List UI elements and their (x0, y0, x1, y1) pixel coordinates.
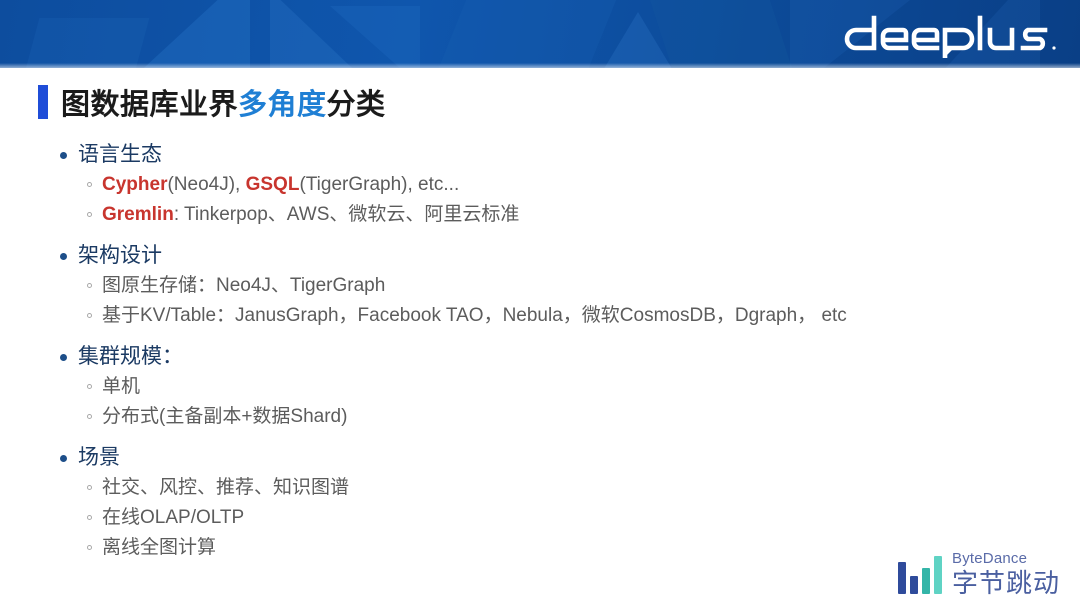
outline-text: 在线OLAP/OLTP (102, 507, 244, 528)
outline-text: : Tinkerpop、AWS、微软云、阿里云标准 (174, 204, 520, 225)
bytedance-bars-icon (898, 554, 942, 594)
page-title: 图数据库业界多角度分类 (38, 80, 386, 124)
banner-bottom-fade (0, 63, 1080, 68)
bytedance-bar-4 (934, 556, 942, 594)
outline-group-gap (56, 432, 1016, 441)
outline-item: 分布式(主备副本+数据Shard) (56, 402, 1016, 432)
outline-item: 图原生存储：Neo4J、TigerGraph (56, 271, 1016, 301)
outline-group-gap (56, 331, 1016, 340)
deeplus-logo-icon (844, 8, 1062, 58)
bytedance-en-label: ByteDance (952, 551, 1060, 566)
outline-text: (TigerGraph), etc... (299, 174, 459, 195)
outline-keyword: GSQL (246, 174, 300, 195)
outline-item: 离线全图计算 (56, 533, 1016, 563)
header-banner (0, 0, 1080, 68)
outline-item: 在线OLAP/OLTP (56, 503, 1016, 533)
banner-shape-4 (330, 6, 420, 68)
bytedance-cn-label: 字节跳动 (952, 570, 1060, 596)
banner-shape-2 (120, 0, 250, 68)
outline-text: 分布式(主备副本+数据Shard) (102, 406, 347, 427)
title-prefix: 图数据库业界 (61, 89, 238, 121)
outline-item: 基于KV/Table：JanusGraph，Facebook TAO，Nebul… (56, 301, 1016, 331)
bytedance-bar-2 (910, 576, 918, 594)
outline-heading: 架构设计 (56, 241, 1016, 271)
outline-item: 社交、风控、推荐、知识图谱 (56, 473, 1016, 503)
outline-heading: 语言生态 (56, 140, 1016, 170)
bytedance-logo: ByteDance 字节跳动 (898, 551, 1060, 596)
outline-text: 社交、风控、推荐、知识图谱 (102, 477, 349, 498)
outline-heading: 场景 (56, 443, 1016, 473)
title-accent: 多角度 (238, 89, 327, 121)
slide-outline: 语言生态Cypher(Neo4J), GSQL(TigerGraph), etc… (56, 138, 1016, 563)
outline-item: Gremlin: Tinkerpop、AWS、微软云、阿里云标准 (56, 200, 1016, 230)
outline-text: (Neo4J), (167, 174, 245, 195)
outline-text: 基于KV/Table：JanusGraph，Facebook TAO，Nebul… (102, 305, 847, 326)
outline-text: 图原生存储：Neo4J、TigerGraph (102, 275, 385, 296)
outline-keyword: Gremlin (102, 204, 174, 225)
outline-item: Cypher(Neo4J), GSQL(TigerGraph), etc... (56, 170, 1016, 200)
outline-text: 单机 (102, 376, 140, 397)
title-text: 图数据库业界多角度分类 (61, 81, 386, 123)
outline-keyword: Cypher (102, 174, 167, 195)
title-accent-bar (38, 85, 48, 119)
bytedance-bar-1 (898, 562, 906, 594)
bytedance-wordmark: ByteDance 字节跳动 (952, 551, 1060, 596)
outline-group-gap (56, 230, 1016, 239)
outline-heading: 集群规模： (56, 342, 1016, 372)
title-suffix: 分类 (327, 89, 386, 121)
outline-item: 单机 (56, 372, 1016, 402)
bytedance-bar-3 (922, 568, 930, 594)
outline-text: 离线全图计算 (102, 537, 216, 558)
